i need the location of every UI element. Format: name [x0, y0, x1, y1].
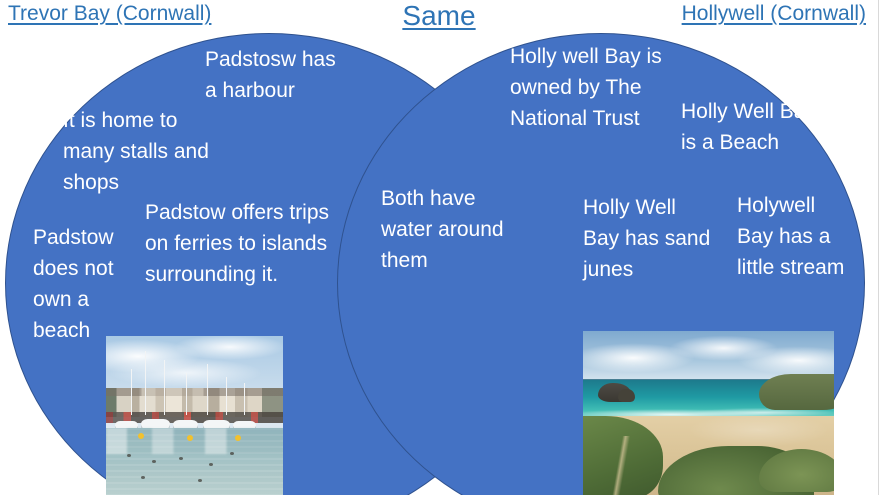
note-right-is-a-beach: Holly Well Bay is a Beach	[681, 96, 816, 158]
note-left-has-a-harbour: Padstosw has a harbour	[205, 44, 345, 106]
harbour-bird	[230, 452, 234, 455]
beach-headland	[759, 374, 834, 410]
harbour-bird	[127, 454, 131, 457]
beach-sky	[583, 331, 834, 380]
heading-center-text: Same	[402, 0, 475, 31]
note-right-owned-by-national-trust: Holly well Bay is owned by The National …	[510, 41, 700, 134]
note-overlap-both-have-water: Both have water around them	[381, 183, 506, 276]
beach-photo[interactable]	[583, 331, 834, 495]
harbour-masts	[106, 342, 283, 415]
harbour-bird	[209, 463, 213, 466]
heading-right-hollywell: Hollywell (Cornwall)	[682, 2, 866, 26]
note-left-does-not-own-a-beach: Padstow does not own a beach	[33, 222, 138, 346]
harbour-reflections	[106, 428, 283, 453]
note-right-little-stream: Holywell Bay has a little stream	[737, 190, 847, 283]
harbour-bird	[179, 457, 183, 460]
note-left-stalls-and-shops: It is home to many stalls and shops	[63, 105, 213, 198]
beach-offshore-rock	[598, 383, 631, 401]
harbour-buoy	[235, 435, 241, 441]
harbour-bird	[152, 460, 156, 463]
harbour-buoy	[138, 433, 144, 439]
note-right-sand-dunes: Holly Well Bay has sand junes	[583, 192, 713, 285]
beach-path	[588, 436, 653, 495]
harbour-photo[interactable]	[106, 336, 283, 495]
note-left-ferry-trips: Padstow offers trips on ferries to islan…	[145, 197, 335, 290]
venn-diagram-slide: Trevor Bay (Cornwall) Same Hollywell (Co…	[0, 0, 879, 495]
